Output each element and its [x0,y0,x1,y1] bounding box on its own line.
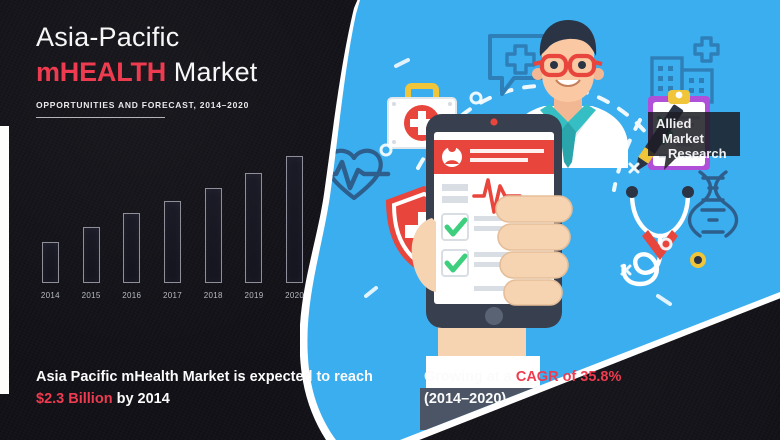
left-accent-strip [0,126,9,394]
headline-block: Asia-Pacific mHEALTH Market OPPORTUNITIE… [36,22,306,118]
caption-left-line-1: Asia Pacific mHealth Market is expected … [36,366,386,388]
page-title-line-1: Asia-Pacific [36,22,306,54]
caption-left: Asia Pacific mHealth Market is expected … [36,366,386,410]
bar-2019 [245,173,262,283]
page-title-line-2: mHEALTH Market [36,57,306,89]
x-label-2015: 2015 [71,287,112,305]
caption-left-highlight: $2.3 Billion [36,391,113,407]
bar-cell [234,150,275,283]
caption-right-line-2: (2014–2020) [424,388,754,410]
x-label-2020: 2020 [274,287,315,305]
bar-chart-bars [30,150,315,283]
bar-2015 [83,227,100,283]
caption-right-prefix: Growing at a [424,369,516,385]
x-label-2018: 2018 [193,287,234,305]
title-underline [36,117,165,118]
caption-left-suffix: by 2014 [113,391,170,407]
bar-chart-x-axis: 2014201520162017201820192020 [30,287,315,305]
caption-right-line-1: Growing at a CAGR of 35.8% [424,366,754,388]
page-title-rest: Market [166,57,257,87]
caption-right-highlight: CAGR of 35.8% [516,369,622,385]
watermark-line-2: Market [662,131,705,146]
bar-cell [30,150,71,283]
caption-left-line-2: $2.3 Billion by 2014 [36,388,386,410]
bar-chart: 2014201520162017201820192020 [30,150,315,305]
bar-2017 [164,201,181,283]
bar-cell [152,150,193,283]
bar-2016 [123,213,140,283]
watermark-line-3: Research [668,146,727,161]
x-label-2014: 2014 [30,287,71,305]
x-label-2017: 2017 [152,287,193,305]
watermark-line-1: Allied [656,116,691,131]
bar-cell [71,150,112,283]
infographic-canvas: Allied Market Research Asia-Pacific mHEA… [0,0,780,440]
page-subtitle: OPPORTUNITIES AND FORECAST, 2014–2020 [36,100,306,110]
page-title-accent: mHEALTH [36,57,166,87]
bar-2014 [42,242,59,283]
x-label-2016: 2016 [111,287,152,305]
x-label-2019: 2019 [234,287,275,305]
bar-2020 [286,156,303,283]
bar-cell [111,150,152,283]
bar-cell [274,150,315,283]
bar-cell [193,150,234,283]
caption-right: Growing at a CAGR of 35.8% (2014–2020) [424,366,754,410]
bar-2018 [205,188,222,283]
